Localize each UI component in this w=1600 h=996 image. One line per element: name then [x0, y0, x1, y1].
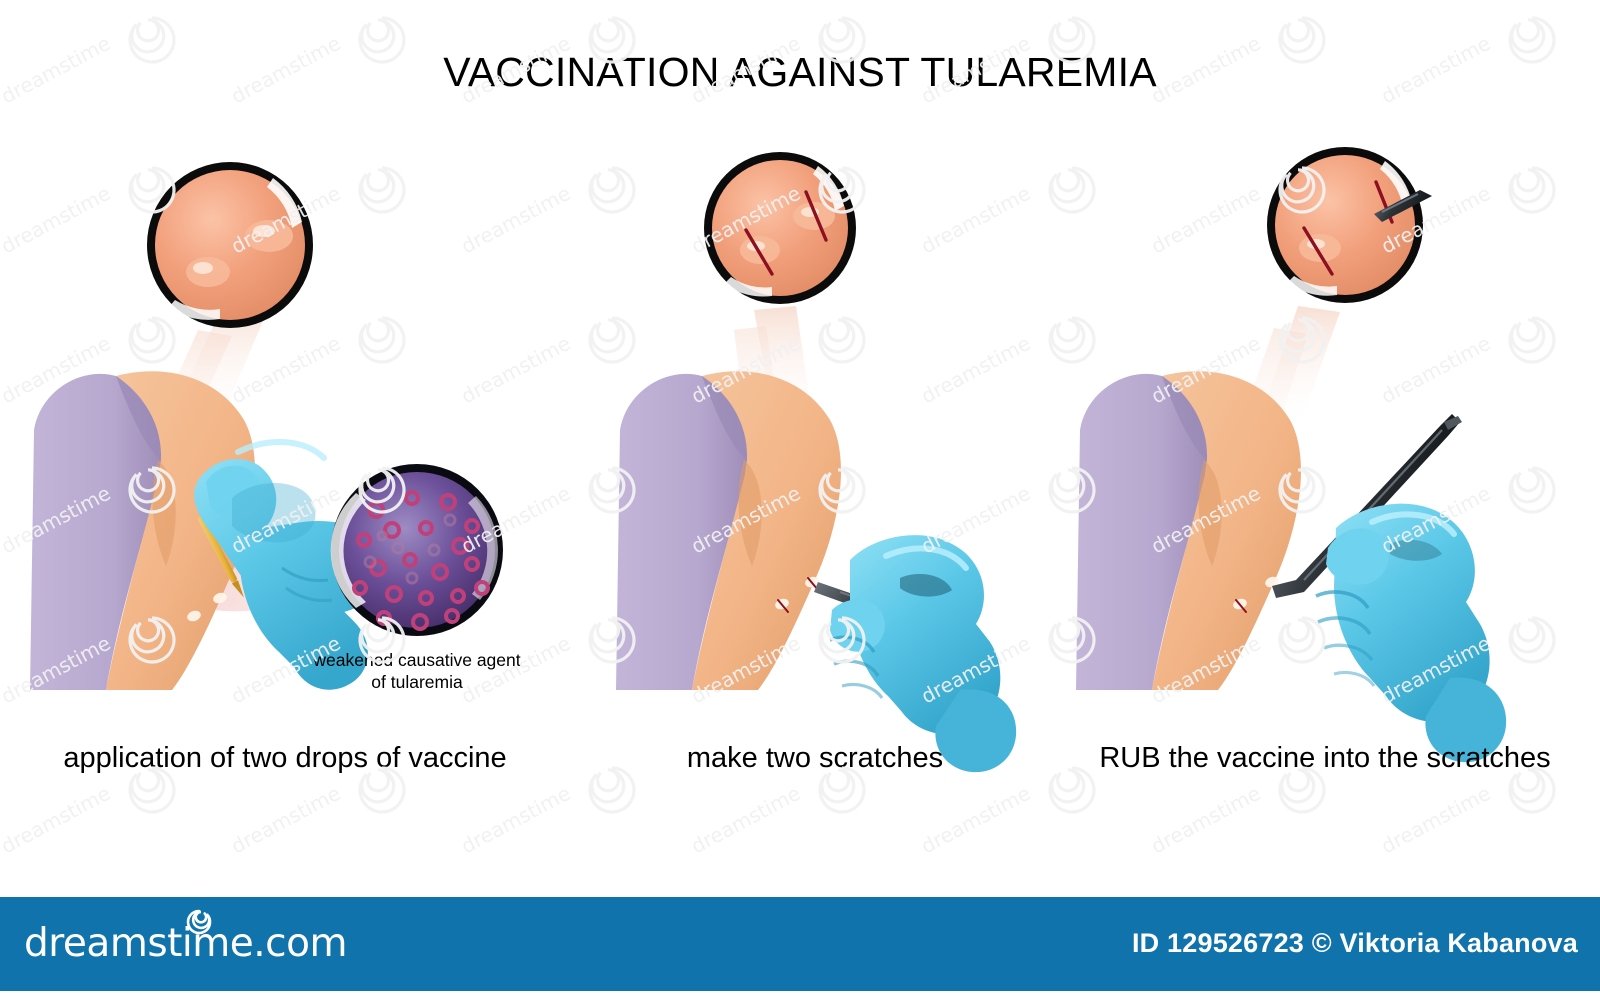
gloved-hand: [830, 535, 1016, 772]
patient-arm: [1076, 371, 1301, 690]
spiral-icon: [184, 907, 214, 937]
panel-2-caption: make two scratches: [600, 742, 1030, 775]
microscope-bacteria: [331, 464, 503, 636]
microscope-caption-line1: weakened causative agent: [292, 650, 542, 672]
microscope-caption: weakened causative agent of tularemia: [292, 650, 542, 694]
panel-make-scratches: make two scratches: [600, 130, 1030, 790]
panel-2-illustration: [600, 130, 1030, 790]
skin-magnifier-rubbing: [1267, 147, 1432, 303]
page-title: VACCINATION AGAINST TULAREMIA: [0, 50, 1600, 95]
patient-arm: [616, 371, 841, 690]
panel-3-caption: RUB the vaccine into the scratches: [1060, 742, 1590, 775]
vaccine-droplet: [245, 220, 293, 252]
panel-1-caption: application of two drops of vaccine: [15, 742, 555, 775]
image-credit: ID 129526723 © Viktoria Kabanova: [1132, 928, 1578, 959]
vaccine-droplet: [186, 257, 230, 287]
microscope-caption-line2: of tularemia: [292, 672, 542, 694]
skin-magnifier-scratches: [704, 152, 856, 304]
panel-application-of-drops: weakened causative agent of tularemia ap…: [20, 130, 560, 790]
skin-magnifier-drops: [147, 162, 313, 328]
dreamstime-footer-bar: dreamstime.com ID 129526723 © Viktoria K…: [0, 897, 1600, 991]
panel-3-illustration: [1060, 130, 1590, 790]
dreamstime-logo[interactable]: dreamstime.com: [24, 921, 347, 966]
panel-rub-vaccine: RUB the vaccine into the scratches: [1060, 130, 1590, 790]
gloved-hand: [1316, 504, 1506, 762]
